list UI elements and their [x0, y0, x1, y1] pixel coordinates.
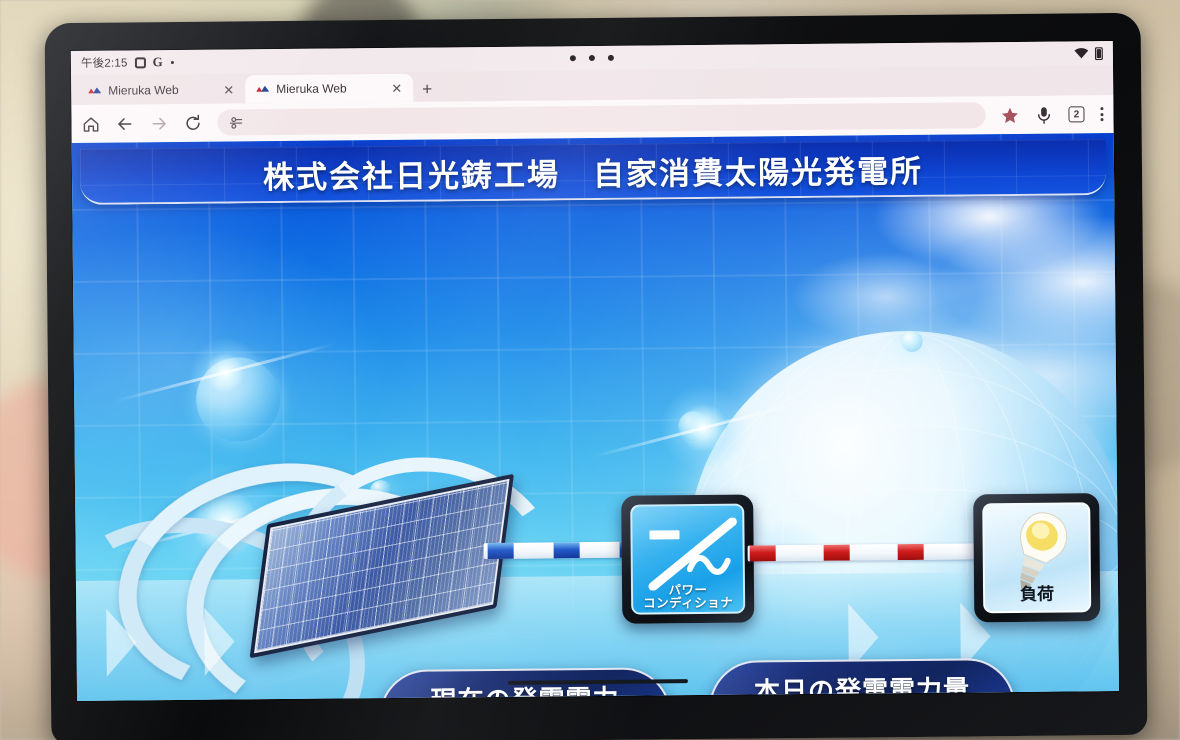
- browser-tab-2[interactable]: Mieruka Web ✕: [245, 74, 413, 104]
- browser-tab-1[interactable]: Mieruka Web ✕: [77, 75, 245, 105]
- tablet-screen: 午後2:15 G Mieruka Web ✕: [71, 41, 1119, 701]
- tab-title: Mieruka Web: [276, 81, 382, 96]
- load-box[interactable]: 負荷: [973, 493, 1100, 622]
- forward-arrow-icon: [149, 114, 168, 133]
- tablet-device: 午後2:15 G Mieruka Web ✕: [45, 13, 1148, 740]
- status-right-icons: [1074, 47, 1103, 60]
- power-conditioner-label: パワー コンディショナ: [633, 582, 743, 609]
- dc-flow-segment: [488, 543, 514, 559]
- google-g-icon: G: [152, 54, 162, 70]
- power-conditioner-box[interactable]: パワー コンディショナ: [621, 494, 754, 623]
- power-conditioner-face: パワー コンディショナ: [630, 504, 745, 615]
- back-arrow-icon[interactable]: [115, 114, 134, 133]
- chevron-shape: [204, 607, 235, 675]
- microphone-icon[interactable]: [1035, 105, 1052, 124]
- battery-icon: [1095, 47, 1103, 60]
- dot-icon: [171, 61, 174, 64]
- kebab-menu-icon[interactable]: [1100, 107, 1103, 121]
- ac-flow-segment: [750, 545, 776, 561]
- ac-flow-segment: [824, 545, 850, 561]
- wifi-icon: [1074, 47, 1089, 59]
- current-power-readout: 現在の発電電力 20.9 kW: [379, 667, 672, 701]
- mieruka-solar-dashboard: 株式会社日光鋳工場 自家消費太陽光発電所: [72, 133, 1119, 701]
- toolbar-right-icons: 2: [1000, 105, 1103, 125]
- load-face: 負荷: [982, 502, 1091, 613]
- tab-title: Mieruka Web: [108, 83, 214, 98]
- lens-flare: [190, 337, 261, 408]
- notification-dots: [570, 55, 614, 61]
- ac-tilde-symbol: [687, 552, 731, 578]
- power-conditioner-label-line2: コンディショナ: [633, 595, 743, 609]
- new-tab-button[interactable]: +: [413, 80, 442, 101]
- tune-sliders-icon[interactable]: [229, 116, 242, 129]
- page-title-banner: 株式会社日光鋳工場 自家消費太陽光発電所: [80, 139, 1106, 205]
- reload-icon[interactable]: [183, 113, 202, 132]
- ac-flow-segment: [898, 544, 924, 560]
- square-app-icon: [134, 57, 145, 68]
- tab-favicon: [88, 86, 101, 95]
- dc-flow-line: [484, 542, 632, 559]
- tab-count-button[interactable]: 2: [1068, 106, 1084, 122]
- home-icon[interactable]: [81, 114, 100, 133]
- star-icon[interactable]: [1000, 105, 1019, 124]
- tab-favicon: [256, 85, 269, 94]
- chevron-shape: [106, 608, 137, 676]
- page-title: 株式会社日光鋳工場 自家消費太陽光発電所: [263, 145, 923, 196]
- tab-close-icon[interactable]: ✕: [389, 81, 404, 94]
- ac-flow-line: [748, 543, 980, 561]
- status-clock: 午後2:15: [81, 54, 128, 70]
- bubble-sphere-small: [902, 331, 923, 352]
- load-label: 負荷: [985, 586, 1089, 605]
- dc-flow-segment: [554, 542, 580, 558]
- current-power-title: 現在の発電電力: [381, 678, 669, 701]
- today-energy-readout: 本日の発電電力量 181.5 kWh: [709, 658, 1016, 701]
- address-bar[interactable]: [217, 102, 985, 135]
- tab-close-icon[interactable]: ✕: [221, 83, 236, 96]
- today-energy-title: 本日の発電電力量: [711, 669, 1013, 701]
